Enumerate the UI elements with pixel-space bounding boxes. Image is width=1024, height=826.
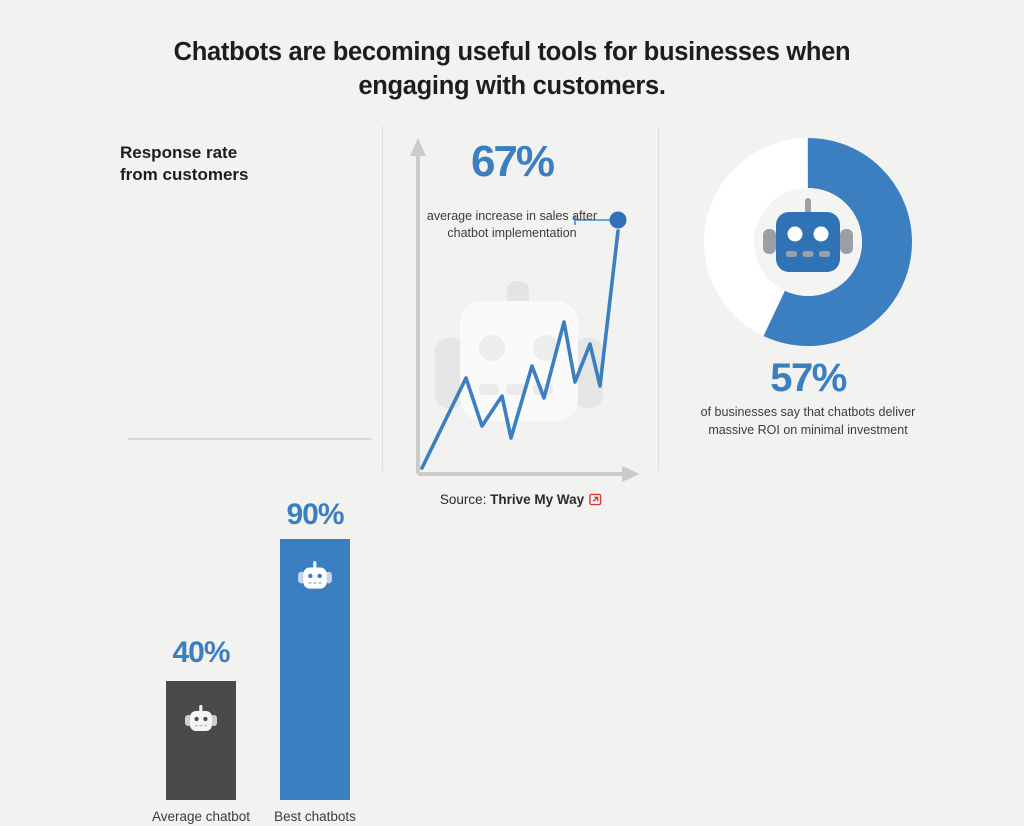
bar-chart-baseline	[128, 438, 372, 440]
source-link[interactable]: Thrive My Way	[490, 492, 584, 507]
robot-head-icon	[184, 705, 218, 735]
bar-chart-heading: Response rate from customers	[120, 142, 250, 186]
panel-divider-right	[658, 126, 659, 471]
source-attribution: Source: Thrive My Way	[392, 492, 650, 507]
data-point-dot	[610, 212, 627, 229]
donut-chart-graphic	[700, 134, 916, 350]
bar-category-label: Best chatbots	[255, 808, 375, 826]
donut-chart-stat: 57%	[668, 358, 948, 398]
line-chart-panel: 67% average increase in sales after chat…	[392, 126, 650, 486]
axis-arrow-right-icon	[418, 466, 640, 482]
bar-chart-panel: Response rate from customers 40% Average…	[112, 126, 374, 486]
donut-chart-caption: of businesses say that chatbots deliver …	[688, 404, 928, 440]
bar-value-label: 90%	[260, 498, 370, 532]
robot-head-icon	[297, 561, 333, 593]
robot-head-watermark-icon	[435, 281, 603, 421]
page-title: Chatbots are becoming useful tools for b…	[142, 36, 882, 103]
axis-arrow-up-icon	[410, 138, 426, 474]
source-prefix-label: Source:	[440, 492, 487, 507]
donut-chart-panel: 57% of businesses say that chatbots deli…	[668, 126, 948, 486]
bar-category-label: Average chatbot	[141, 808, 261, 826]
line-chart-caption: average increase in sales after chatbot …	[422, 208, 602, 243]
external-link-icon[interactable]	[589, 493, 602, 506]
bar-rect-best-chatbots[interactable]	[280, 539, 350, 800]
bar-value-label: 40%	[146, 636, 256, 670]
panel-divider-left	[382, 126, 383, 471]
bar-rect-average-chatbot[interactable]	[166, 681, 236, 800]
line-chart-stat: 67%	[430, 140, 594, 184]
